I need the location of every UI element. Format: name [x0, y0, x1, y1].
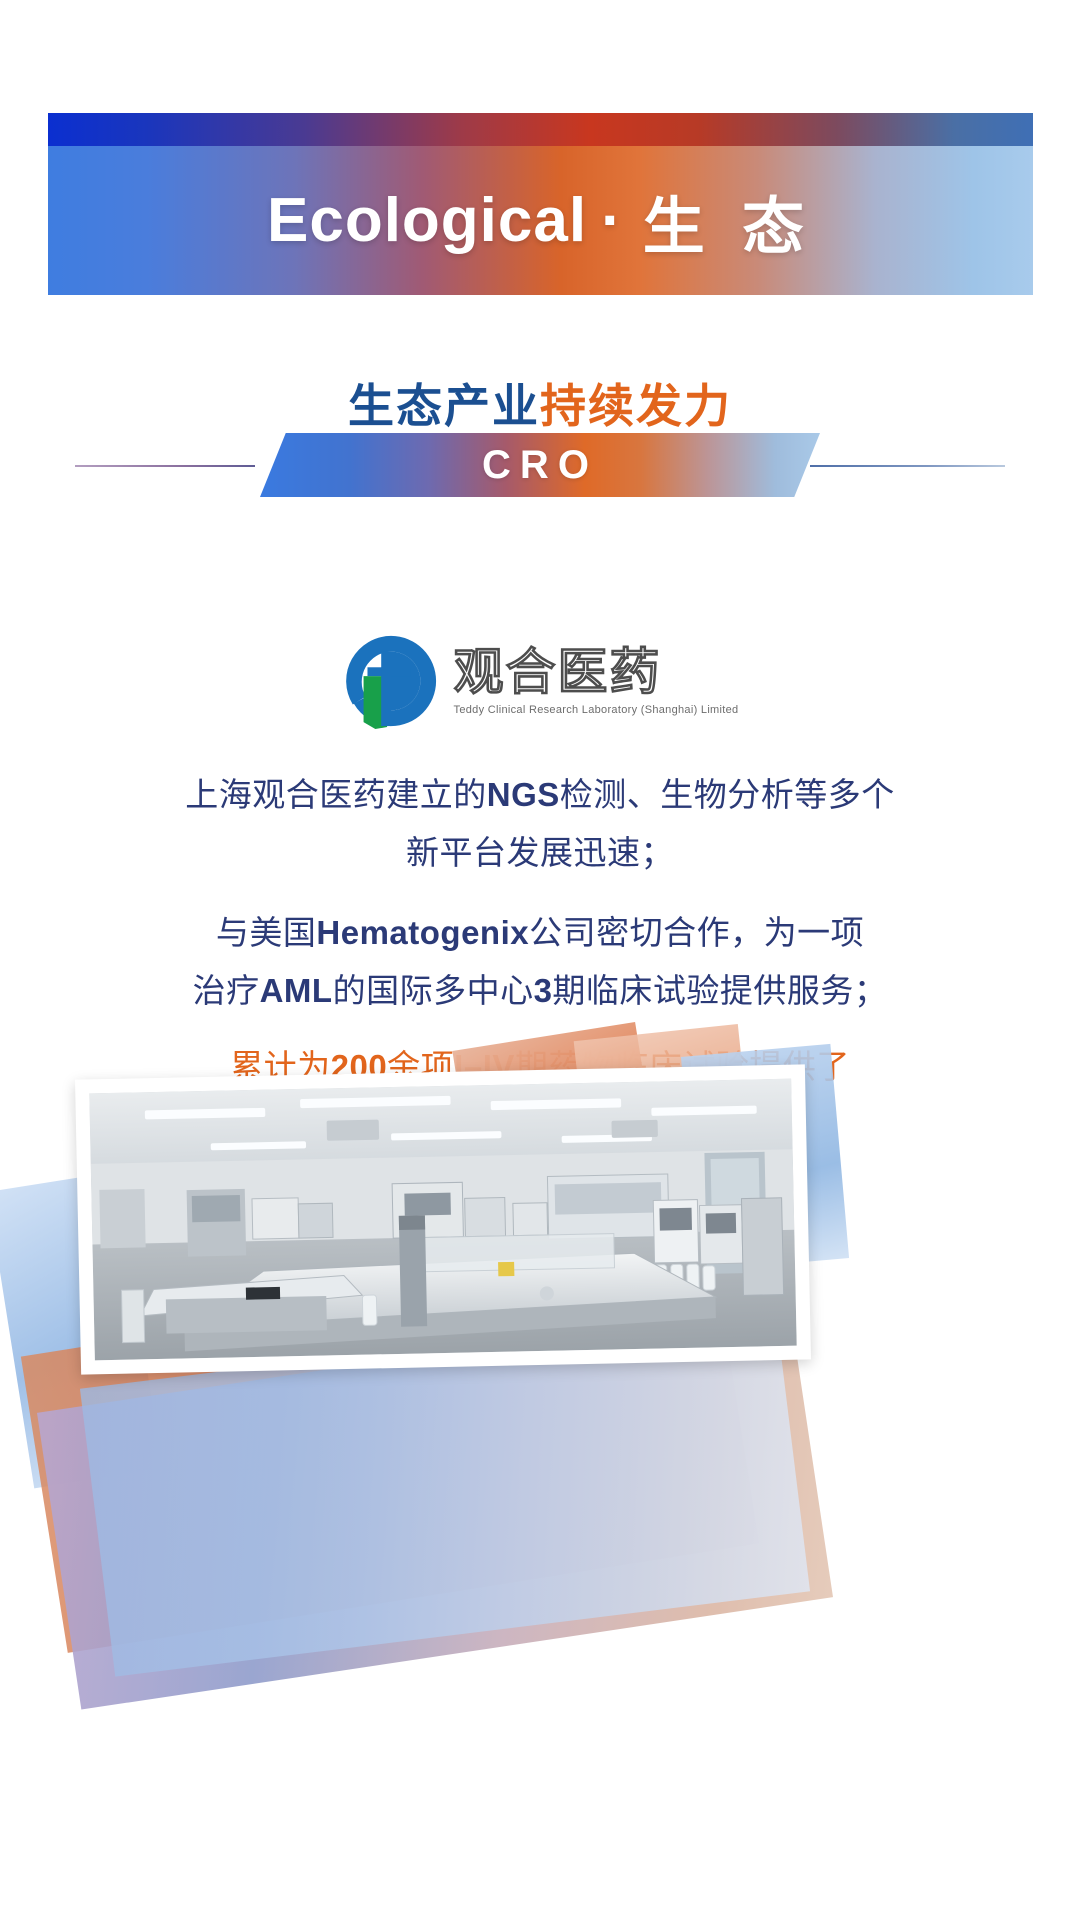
- title-separator: ·: [601, 185, 623, 256]
- logo-text-block: 观合医药 Teddy Clinical Research Laboratory …: [454, 647, 739, 716]
- logo-company-name-en: Teddy Clinical Research Laboratory (Shan…: [454, 704, 739, 716]
- body-text: 公司密切合作，为一项: [529, 914, 864, 951]
- banner-top-strip: [48, 113, 1033, 146]
- paragraph-line: 与美国Hematogenix公司密切合作，为一项: [95, 904, 985, 962]
- page-title-cn: 生 态: [643, 176, 814, 266]
- body-text: 期临床试验提供服务；: [552, 972, 887, 1009]
- laboratory-interior-photo: [89, 1079, 796, 1361]
- header-banner: Ecological · 生 态: [48, 113, 1033, 295]
- ribbon-rule-right: [810, 465, 1005, 467]
- poster-page: Ecological · 生 态 生态产业持续发力 CRO: [0, 0, 1080, 1920]
- page-title-en: Ecological: [267, 185, 587, 256]
- body-text: 与美国: [216, 914, 317, 951]
- logo-company-name-cn: 观合医药: [454, 647, 739, 697]
- company-logo: 观合医药 Teddy Clinical Research Laboratory …: [0, 626, 1080, 736]
- paragraph-line: 上海观合医药建立的NGS检测、生物分析等多个: [95, 766, 985, 824]
- paragraph-line: 新平台发展迅速；: [95, 824, 985, 882]
- body-text: 治疗: [193, 972, 260, 1009]
- emphasis-text: AML: [260, 972, 333, 1009]
- ribbon-label: CRO: [482, 443, 598, 488]
- paragraph-2: 与美国Hematogenix公司密切合作，为一项治疗AML的国际多中心3期临床试…: [95, 904, 985, 1020]
- page-title: Ecological · 生 态: [48, 146, 1033, 295]
- body-text: 的国际多中心: [333, 972, 534, 1009]
- ribbon-rule-left: [75, 465, 255, 467]
- photo-frame: [75, 1064, 811, 1374]
- paragraph-1: 上海观合医药建立的NGS检测、生物分析等多个新平台发展迅速；: [95, 766, 985, 882]
- teddy-d-logo-icon: [342, 632, 440, 730]
- photo-collage: [0, 1150, 1080, 1750]
- body-text: 检测、生物分析等多个: [560, 776, 895, 813]
- cro-ribbon-group: CRO: [0, 415, 1080, 515]
- body-text: 新平台发展迅速；: [406, 834, 674, 871]
- emphasis-text: Hematogenix: [316, 914, 529, 951]
- emphasis-text: 3: [534, 972, 553, 1009]
- emphasis-text: NGS: [487, 776, 560, 813]
- paragraph-line: 治疗AML的国际多中心3期临床试验提供服务；: [95, 962, 985, 1020]
- section-ribbon-cro: CRO: [260, 433, 820, 497]
- body-text: 上海观合医药建立的: [185, 776, 487, 813]
